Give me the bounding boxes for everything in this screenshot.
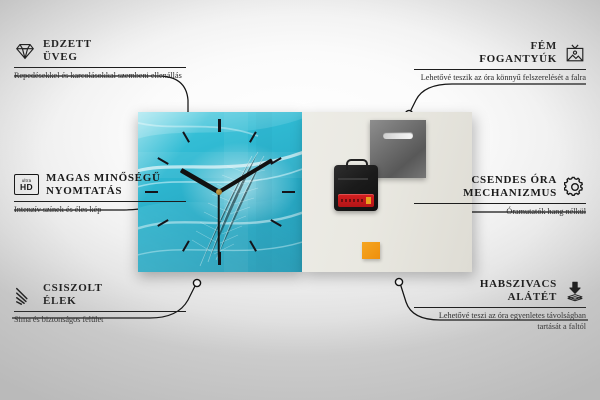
movement-loop (346, 159, 368, 170)
callout-rule (414, 307, 586, 308)
callout-title-line2: NYOMTATÁS (46, 185, 161, 198)
callout-silent-mechanism[interactable]: CSENDES ÓRA MECHANIZMUS Óramutatók hang … (414, 174, 586, 218)
connector-endpoint (193, 279, 200, 286)
callout-title-line1: FÉM (479, 40, 557, 53)
callout-rule (14, 201, 186, 202)
callout-title-line2: ÉLEK (43, 295, 103, 308)
callout-subtitle: Sima és biztonságos felület (14, 315, 186, 326)
quartz-movement (334, 165, 378, 211)
connector-endpoint (395, 278, 402, 285)
callout-subtitle: Lehetővé teszik az óra könnyű felszerelé… (414, 73, 586, 84)
infographic-canvas: EDZETT ÜVEG Repedésekkel és karcolásokka… (0, 0, 600, 400)
polished-edges-icon (14, 284, 36, 306)
clock-tick-12 (218, 119, 220, 132)
callout-tempered-glass[interactable]: EDZETT ÜVEG Repedésekkel és karcolásokka… (14, 38, 186, 82)
callout-subtitle: Repedésekkel és karcolásokkal szembeni e… (14, 71, 186, 82)
callout-rule (414, 203, 586, 204)
callout-subtitle: Intenzív színek és éles kép (14, 205, 186, 216)
callout-title-line2: MECHANIZMUS (463, 187, 557, 200)
callout-rule (14, 311, 186, 312)
clock-tick-3 (282, 191, 295, 193)
diamond-icon (14, 40, 36, 62)
movement-ridge (338, 178, 368, 180)
callout-high-quality-print[interactable]: ultra HD MAGAS MINŐSÉGŰ NYOMTATÁS Intenz… (14, 172, 186, 216)
callout-rule (14, 67, 186, 68)
callout-subtitle: Óramutatók hang nélkül (414, 207, 586, 218)
foam-pad (362, 242, 380, 259)
callout-title-line1: MAGAS MINŐSÉGŰ (46, 172, 161, 185)
ultra-hd-big-text: HD (20, 183, 33, 191)
callout-title-line2: FOGANTYÚK (479, 53, 557, 66)
callout-title-line1: CSENDES ÓRA (463, 174, 557, 187)
callout-subtitle: Lehetővé teszi az óra egyenletes távolsá… (414, 311, 586, 332)
ultra-hd-icon: ultra HD (14, 174, 39, 195)
hanger-keyhole (383, 132, 413, 139)
callout-title-line2: ÜVEG (43, 51, 92, 64)
callout-metal-handles[interactable]: FÉM FOGANTYÚK Lehetővé teszik az óra kön… (414, 40, 586, 84)
foam-pad-icon (564, 280, 586, 302)
metal-hanger-plate (370, 120, 426, 178)
callout-title-line1: EDZETT (43, 38, 92, 51)
callout-polished-edges[interactable]: CSISZOLT ÉLEK Sima és biztonságos felüle… (14, 282, 186, 326)
callout-title-line1: HABSZIVACS (480, 278, 557, 291)
battery-compartment (338, 194, 374, 207)
callout-title-line1: CSISZOLT (43, 282, 103, 295)
gear-icon (564, 176, 586, 198)
picture-hanger-icon (564, 42, 586, 64)
callout-rule (414, 69, 586, 70)
callout-foam-pad[interactable]: HABSZIVACS ALÁTÉT Lehetővé teszi az óra … (414, 278, 586, 332)
callout-title-line2: ALÁTÉT (480, 291, 557, 304)
